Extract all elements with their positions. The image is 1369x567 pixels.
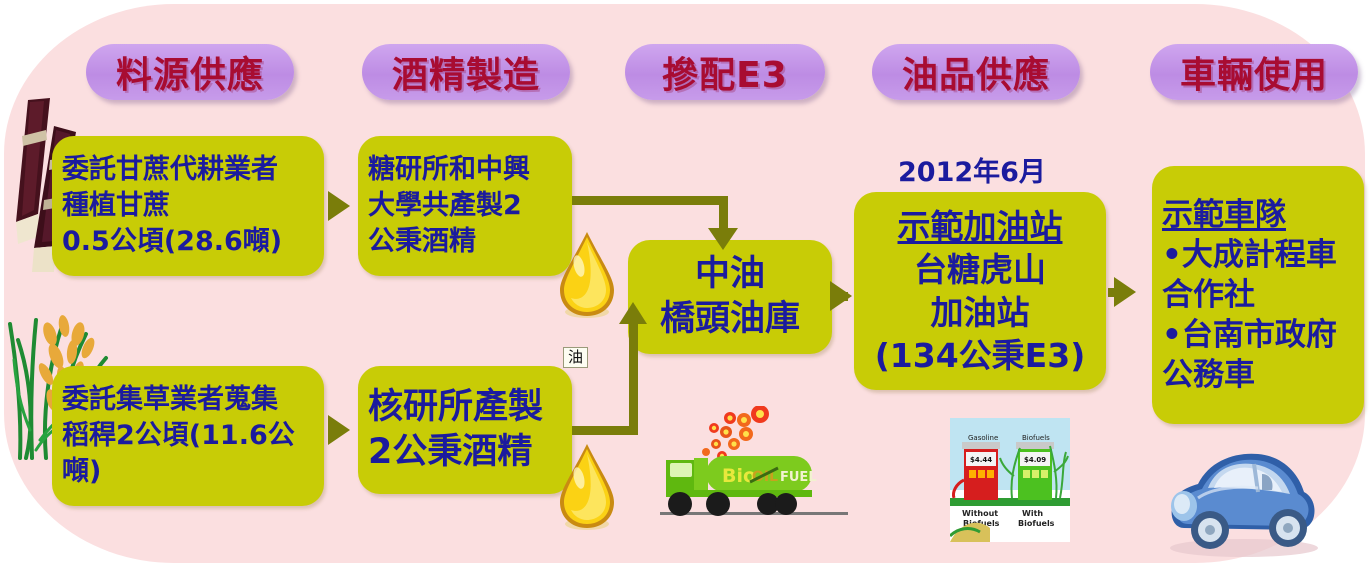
stage-header-fuel-supply: 油品供應 bbox=[872, 44, 1080, 100]
svg-text:Bio: Bio bbox=[722, 465, 756, 487]
box-line: 公務車 bbox=[1162, 355, 1354, 395]
stage-header-label: 酒精製造 bbox=[392, 46, 540, 98]
box-line: 核研所產製 bbox=[368, 385, 562, 430]
stage-header-vehicle-use: 車輛使用 bbox=[1150, 44, 1358, 100]
svg-text:Biofuels: Biofuels bbox=[1018, 519, 1055, 528]
box-line: 橋頭油庫 bbox=[638, 297, 822, 342]
box-line: 中油 bbox=[638, 252, 822, 297]
box-line: 糖研所和中興 bbox=[368, 152, 562, 188]
connector-alcohol-bottom-vertical bbox=[629, 322, 638, 435]
svg-text:$4.44: $4.44 bbox=[970, 456, 992, 464]
blue-concept-car-image bbox=[1158, 444, 1328, 562]
box-line: 2公秉酒精 bbox=[368, 430, 562, 475]
box-line: 委託集草業者蒐集 bbox=[62, 382, 314, 418]
svg-text:Gasoline: Gasoline bbox=[968, 434, 998, 442]
box-line: 大學共產製2 bbox=[368, 188, 562, 224]
box-line: 0.5公頃(28.6噸) bbox=[62, 224, 314, 260]
box-line: (134公秉E3) bbox=[864, 334, 1096, 377]
svg-text:Biofuels: Biofuels bbox=[1022, 434, 1050, 442]
box-line: 委託甘蔗代耕業者 bbox=[62, 152, 314, 188]
oil-drop-icon bbox=[556, 228, 618, 320]
box-line: 合作社 bbox=[1162, 275, 1354, 315]
arrow-sugarcane-to-alcohol bbox=[328, 191, 350, 221]
svg-text:Without: Without bbox=[962, 509, 998, 518]
box-sugarcane-supply: 委託甘蔗代耕業者 種植甘蔗 0.5公頃(28.6噸) bbox=[52, 136, 324, 276]
stage-header-label: 油品供應 bbox=[902, 46, 1050, 98]
svg-text:$4.09: $4.09 bbox=[1024, 456, 1046, 464]
diagram-canvas: 料源供應 酒精製造 摻配E3 油品供應 車輛使用 bbox=[0, 0, 1369, 567]
arrow-blending-to-station bbox=[830, 281, 852, 311]
box-line: 公秉酒精 bbox=[368, 224, 562, 260]
svg-text:With: With bbox=[1022, 509, 1043, 518]
svg-text:FUEL: FUEL bbox=[780, 470, 817, 485]
oil-tag-label: 油 bbox=[563, 347, 588, 368]
box-heading: 示範加油站 bbox=[864, 205, 1096, 248]
station-date-label: 2012年6月 bbox=[898, 150, 1046, 189]
box-alcohol-sugar-institute: 糖研所和中興 大學共產製2 公秉酒精 bbox=[358, 136, 572, 276]
connector-alcohol-top-horizontal bbox=[572, 196, 728, 205]
stage-header-label: 摻配E3 bbox=[662, 46, 788, 98]
box-line: •台南市政府 bbox=[1162, 315, 1354, 355]
box-line: 噸) bbox=[62, 454, 314, 490]
box-straw-supply: 委託集草業者蒐集 稻稈2公頃(11.6公 噸) bbox=[52, 366, 324, 506]
stage-header-alcohol-production: 酒精製造 bbox=[362, 44, 570, 100]
stage-header-label: 料源供應 bbox=[116, 46, 264, 98]
stage-header-label: 車輛使用 bbox=[1180, 46, 1328, 98]
box-demo-fleet: 示範車隊 •大成計程車 合作社 •台南市政府 公務車 bbox=[1152, 166, 1364, 424]
box-line: 稻稈2公頃(11.6公 bbox=[62, 418, 314, 454]
arrow-straw-to-alcohol bbox=[328, 415, 350, 445]
arrow-alcohol-bottom-to-blending bbox=[619, 302, 647, 324]
box-demo-gas-station: 示範加油站 台糖虎山 加油站 (134公秉E3) bbox=[854, 192, 1106, 390]
box-alcohol-nuclear-institute: 核研所產製 2公秉酒精 bbox=[358, 366, 572, 494]
gas-pump-comparison-image: Gasoline $4.44 Without Biofuels Biofuels… bbox=[950, 418, 1070, 542]
box-line: 加油站 bbox=[864, 291, 1096, 334]
arrow-alcohol-top-to-blending bbox=[708, 228, 738, 250]
box-line: 台糖虎山 bbox=[864, 248, 1096, 291]
stage-header-material-supply: 料源供應 bbox=[86, 44, 294, 100]
box-blending-cpc-depot: 中油 橋頭油庫 bbox=[628, 240, 832, 354]
bio-fuel-tanker-truck-image: Bio OIL FUEL bbox=[660, 406, 850, 536]
box-line: •大成計程車 bbox=[1162, 235, 1354, 275]
box-heading: 示範車隊 bbox=[1162, 195, 1354, 235]
stage-header-e3-blending: 摻配E3 bbox=[625, 44, 825, 100]
arrow-station-to-fleet bbox=[1114, 277, 1136, 307]
box-line: 種植甘蔗 bbox=[62, 188, 314, 224]
oil-drop-icon bbox=[556, 440, 618, 532]
